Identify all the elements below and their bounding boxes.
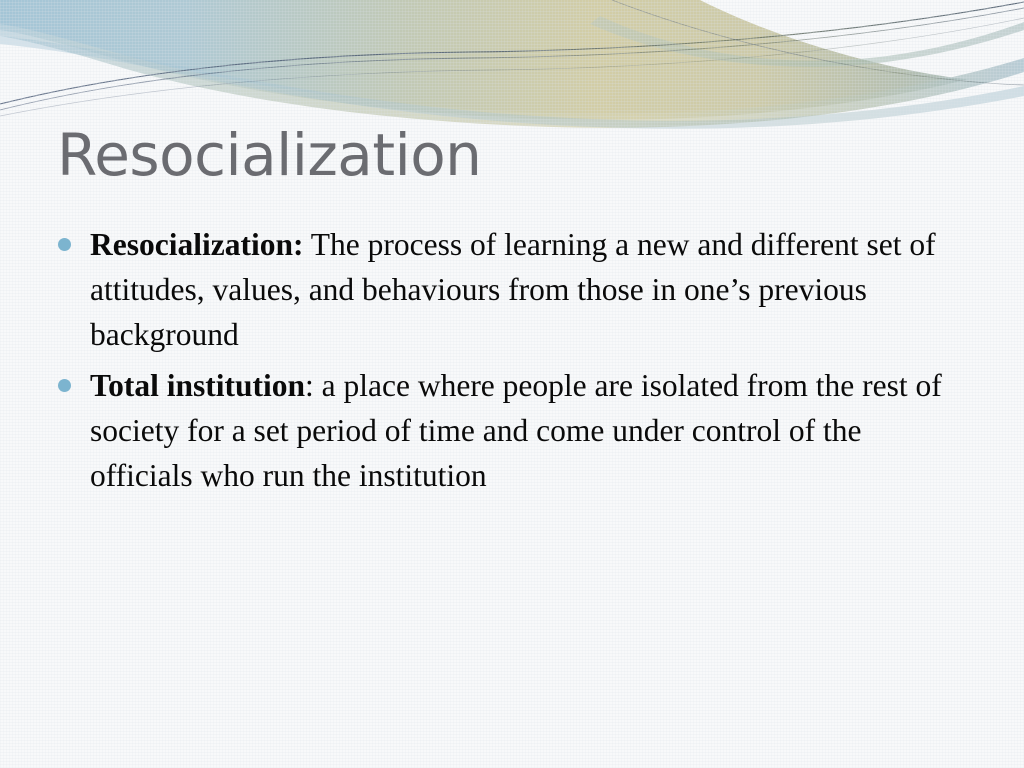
list-item: Resocialization: The process of learning… (52, 222, 952, 357)
bullet-term: Resocialization: (90, 227, 303, 262)
bullet-point-icon (58, 379, 71, 392)
list-item: Total institution: a place where people … (52, 363, 952, 498)
header-wave-decoration (0, 0, 1024, 130)
slide-body: Resocialization: The process of learning… (52, 222, 952, 504)
bullet-term: Total institution (90, 368, 305, 403)
presentation-slide: Resocialization Resocialization: The pro… (0, 0, 1024, 768)
bullet-point-icon (58, 238, 71, 251)
page-title: Resocialization (57, 125, 481, 186)
